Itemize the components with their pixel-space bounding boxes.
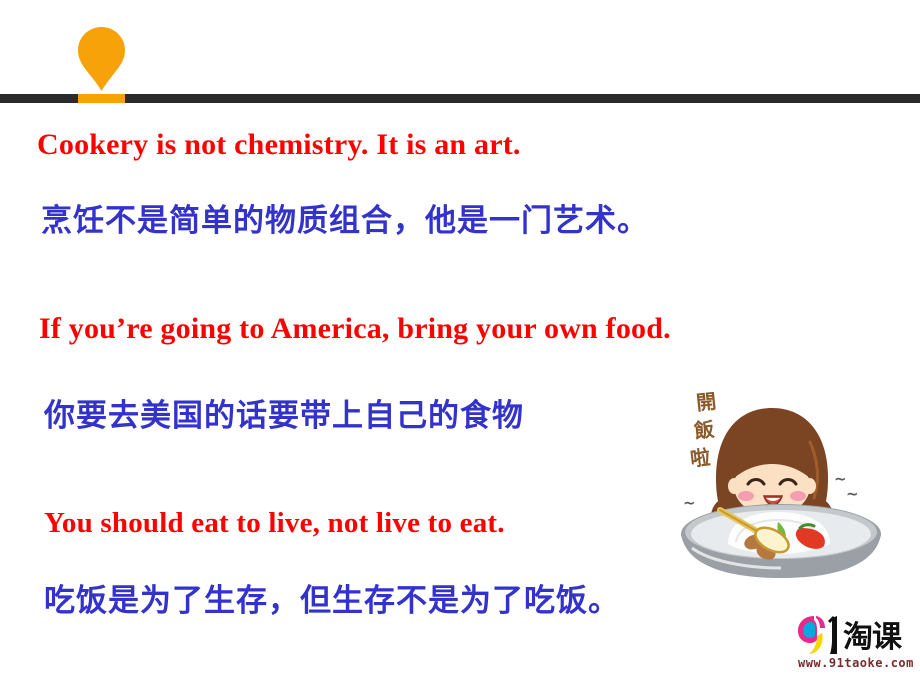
header-divider-bar <box>0 94 920 103</box>
quote-english-2: If you’re going to America, bring your o… <box>39 313 671 345</box>
quote-english-3: You should eat to live, not live to eat. <box>44 508 505 538</box>
slide-canvas: Cookery is not chemistry. It is an art. … <box>0 0 920 690</box>
logo-row: 淘课 <box>796 612 901 656</box>
site-logo: 淘课 www.91taoke.com <box>796 612 916 678</box>
logo-url: www.91taoke.com <box>798 656 914 670</box>
map-pin-icon <box>78 27 125 91</box>
header-divider-accent <box>78 94 125 103</box>
logo-wordmark: 淘课 <box>843 612 901 656</box>
quote-english-1: Cookery is not chemistry. It is an art. <box>37 129 521 161</box>
quote-chinese-1: 烹饪不是简单的物质组合，他是一门艺术。 <box>41 205 649 238</box>
91-swirl-logo-icon <box>796 612 842 656</box>
quote-chinese-2: 你要去美国的话要带上自己的食物 <box>44 400 524 433</box>
girl-eating-rice-bowl-illustration <box>672 382 890 580</box>
quote-chinese-3: 吃饭是为了生存，但生存不是为了吃饭。 <box>44 585 620 618</box>
